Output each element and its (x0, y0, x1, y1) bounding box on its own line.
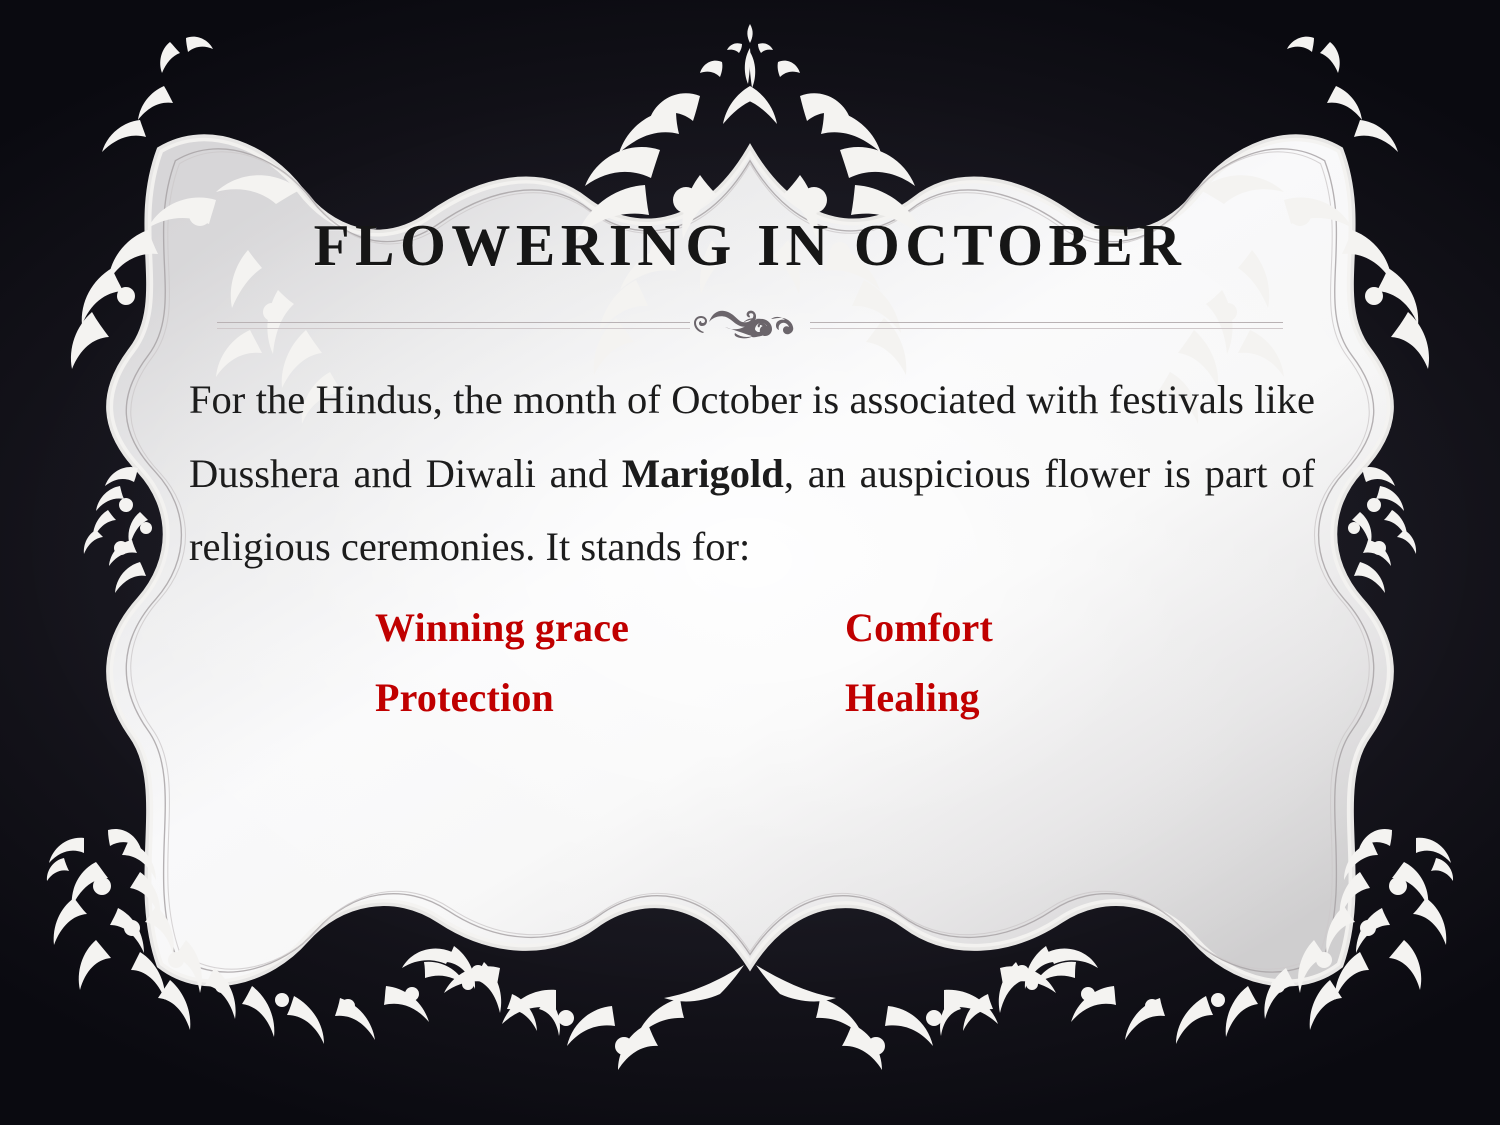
paragraph-emphasis-marigold: Marigold (622, 451, 784, 496)
title-divider (175, 303, 1325, 347)
list-item: Winning grace (375, 606, 845, 650)
divider-rule-left (217, 322, 690, 329)
fleur-de-lis-ornament-right (1348, 467, 1416, 593)
list-item: Healing (845, 676, 1315, 720)
slide-content: Flowering in October with festivals like… (175, 215, 1325, 945)
body-paragraph: with festivals like Dusshera and Diwali … (189, 363, 1315, 584)
page-title: Flowering in October (175, 215, 1325, 277)
divider-rule-right (810, 322, 1283, 329)
paragraph-text-c: , (784, 451, 794, 496)
slide-canvas: Flowering in October with festivals like… (0, 0, 1500, 1125)
virtues-list: Winning grace Comfort Protection Healing (175, 606, 1325, 720)
paragraph-text-a: For the Hindus, the month of October is … (189, 377, 1016, 422)
fleur-de-lis-ornament-left (84, 467, 152, 593)
list-item: Comfort (845, 606, 1315, 650)
list-item: Protection (375, 676, 845, 720)
flourish-ornament (685, 303, 815, 347)
paragraph-text-e: stands for: (580, 524, 750, 569)
